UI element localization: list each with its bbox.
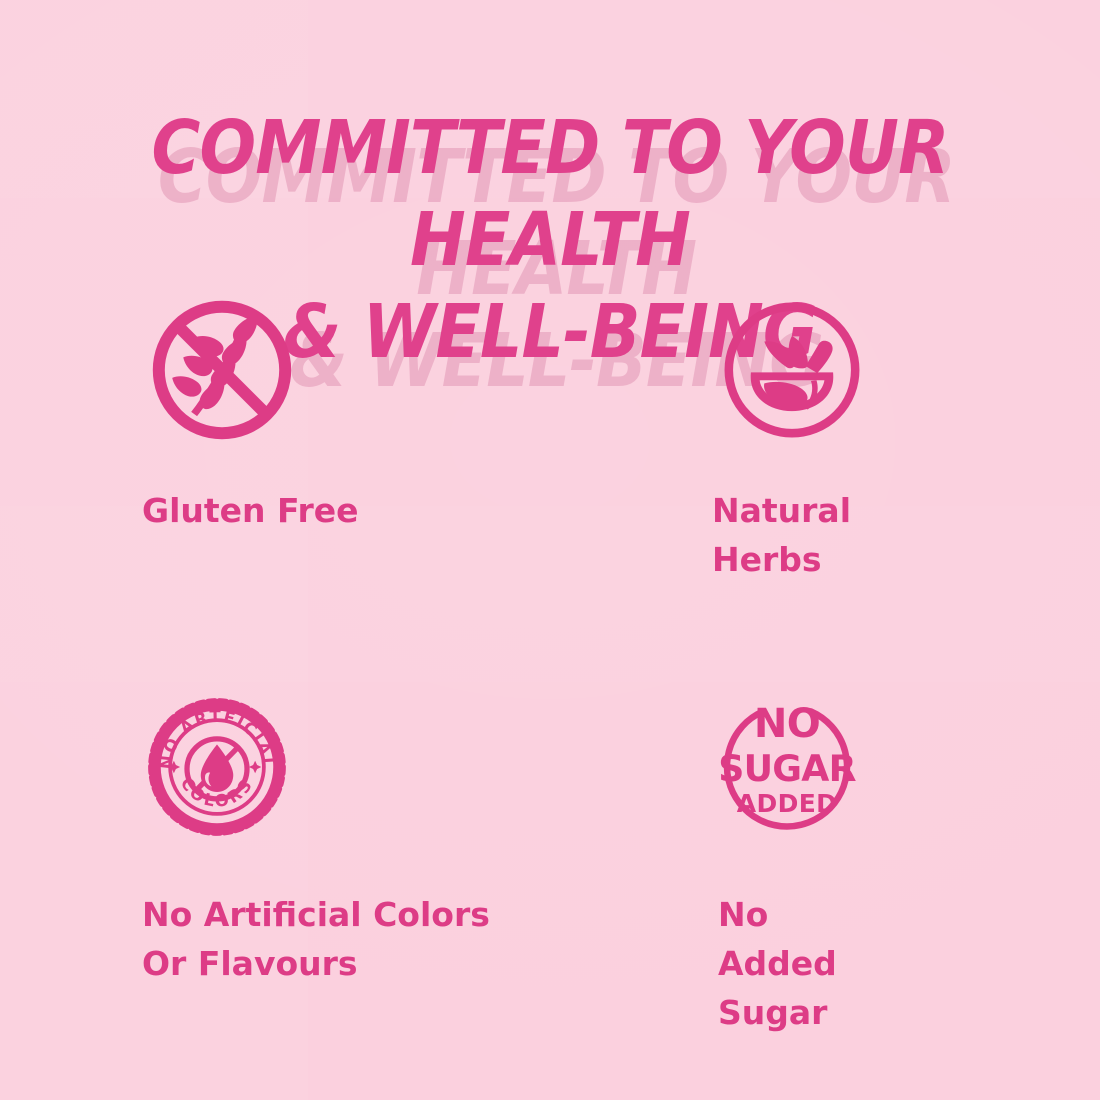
feature-item-natural-herbs: Natural Herbs xyxy=(0,290,712,584)
mortar-pestle-herbs-icon xyxy=(712,290,872,450)
feature-row-1: Gluten Free xyxy=(0,290,1100,584)
feature-row-2: NO ARTFICIAL COLORS xyxy=(0,692,1100,1037)
badge-line-added: ADDED xyxy=(737,789,838,818)
badge-line-sugar: SUGAR xyxy=(718,747,856,790)
feature-grid: Gluten Free xyxy=(0,290,1100,1037)
badge-line-no: NO xyxy=(754,701,820,747)
feature-item-no-added-sugar: NO SUGAR ADDED No Added Sugar xyxy=(0,692,712,1037)
no-sugar-added-badge-icon: NO SUGAR ADDED xyxy=(712,692,862,842)
